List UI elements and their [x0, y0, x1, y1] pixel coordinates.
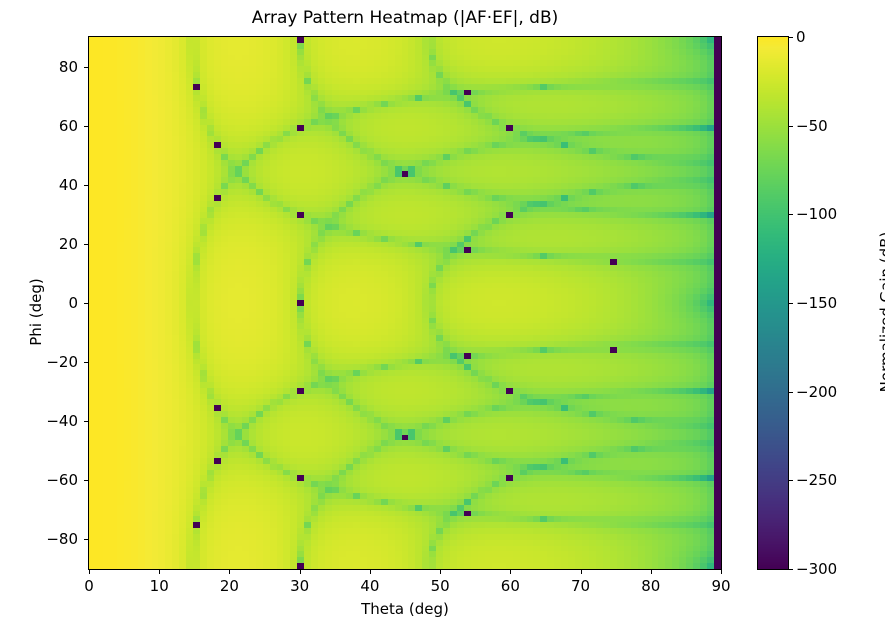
- x-tick-mark: [159, 570, 160, 574]
- colorbar-tick-label: −250: [796, 471, 837, 489]
- colorbar-tick-mark: [789, 126, 793, 127]
- x-tick-label: 30: [290, 577, 309, 595]
- x-tick-label: 70: [571, 577, 590, 595]
- x-tick-mark: [651, 570, 652, 574]
- x-tick-mark: [300, 570, 301, 574]
- x-tick-mark: [721, 570, 722, 574]
- colorbar[interactable]: [757, 36, 789, 570]
- y-tick-mark: [84, 480, 88, 481]
- x-tick-mark: [510, 570, 511, 574]
- y-tick-mark: [84, 185, 88, 186]
- colorbar-tick-label: −50: [796, 117, 828, 135]
- colorbar-gradient: [758, 37, 788, 569]
- y-tick-label: 80: [14, 58, 78, 76]
- heatmap-image[interactable]: [89, 37, 721, 569]
- x-tick-label: 10: [150, 577, 169, 595]
- y-tick-mark: [84, 362, 88, 363]
- colorbar-tick-mark: [789, 480, 793, 481]
- y-tick-label: 20: [14, 235, 78, 253]
- x-tick-mark: [229, 570, 230, 574]
- x-tick-label: 50: [431, 577, 450, 595]
- y-tick-mark: [84, 126, 88, 127]
- x-tick-label: 20: [220, 577, 239, 595]
- colorbar-tick-label: 0: [796, 28, 806, 46]
- x-tick-label: 0: [84, 577, 94, 595]
- x-tick-label: 90: [711, 577, 730, 595]
- colorbar-tick-mark: [789, 214, 793, 215]
- y-tick-mark: [84, 244, 88, 245]
- y-tick-label: −80: [14, 530, 78, 548]
- y-axis-label: Phi (deg): [27, 232, 45, 392]
- colorbar-tick-mark: [789, 303, 793, 304]
- colorbar-tick-mark: [789, 392, 793, 393]
- y-tick-mark: [84, 67, 88, 68]
- colorbar-tick-label: −300: [796, 560, 837, 578]
- x-tick-label: 80: [641, 577, 660, 595]
- x-tick-label: 60: [501, 577, 520, 595]
- x-tick-mark: [581, 570, 582, 574]
- x-tick-mark: [370, 570, 371, 574]
- x-tick-mark: [440, 570, 441, 574]
- y-tick-label: 0: [14, 294, 78, 312]
- y-tick-label: −20: [14, 353, 78, 371]
- y-tick-label: −60: [14, 471, 78, 489]
- figure-canvas: Array Pattern Heatmap (|AF·EF|, dB) 0102…: [0, 0, 885, 637]
- colorbar-tick-mark: [789, 569, 793, 570]
- x-tick-mark: [89, 570, 90, 574]
- y-tick-mark: [84, 303, 88, 304]
- page-title: Array Pattern Heatmap (|AF·EF|, dB): [88, 8, 722, 28]
- x-tick-label: 40: [360, 577, 379, 595]
- y-tick-mark: [84, 539, 88, 540]
- colorbar-tick-label: −150: [796, 294, 837, 312]
- x-axis-label: Theta (deg): [88, 600, 722, 618]
- colorbar-tick-label: −200: [796, 383, 837, 401]
- y-tick-label: 60: [14, 117, 78, 135]
- colorbar-label: Normalized Gain (dB): [877, 212, 885, 412]
- heatmap-axes[interactable]: [88, 36, 722, 570]
- y-tick-label: −40: [14, 412, 78, 430]
- y-tick-label: 40: [14, 176, 78, 194]
- y-tick-mark: [84, 421, 88, 422]
- colorbar-tick-mark: [789, 37, 793, 38]
- colorbar-tick-label: −100: [796, 205, 837, 223]
